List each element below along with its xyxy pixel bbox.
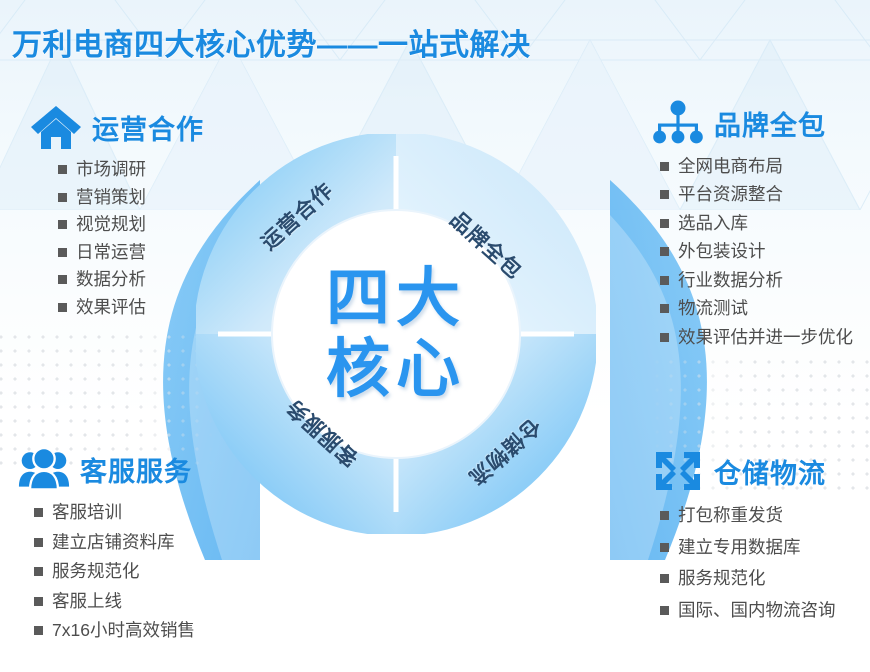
home-icon — [30, 104, 82, 150]
list-item: 外包装设计 — [660, 238, 853, 267]
list-item-label: 全网电商布局 — [678, 158, 783, 176]
quadrant-brand: 品牌全包 全网电商布局 平台资源整合 选品入库 外包装设计 行业数据分析 物流测… — [652, 100, 853, 352]
list-item: 全网电商布局 — [660, 152, 853, 181]
list-item-label: 打包称重发货 — [678, 507, 783, 525]
infographic-canvas: 万利电商四大核心优势——一站式解决 — [0, 0, 870, 672]
list-item: 平台资源整合 — [660, 181, 853, 210]
bullet-icon — [58, 193, 67, 202]
page-title: 万利电商四大核心优势——一站式解决 — [12, 20, 531, 64]
quadrant-service-list: 客服培训 建立店铺资料库 服务规范化 客服上线 7x16小时高效销售 — [34, 498, 195, 646]
people-group-icon — [18, 446, 70, 492]
list-item-label: 视觉规划 — [76, 216, 146, 234]
list-item: 数据分析 — [58, 266, 204, 294]
quadrant-logistics-title: 仓储物流 — [714, 452, 826, 491]
quadrant-brand-title: 品牌全包 — [714, 104, 826, 143]
list-item: 服务规范化 — [34, 557, 195, 587]
list-item-label: 客服培训 — [52, 504, 122, 522]
quadrant-brand-header: 品牌全包 — [652, 100, 853, 146]
bullet-icon — [660, 511, 669, 520]
list-item-label: 物流测试 — [678, 300, 748, 318]
list-item-label: 服务规范化 — [678, 570, 766, 588]
quadrant-brand-list: 全网电商布局 平台资源整合 选品入库 外包装设计 行业数据分析 物流测试 效果评… — [660, 152, 853, 352]
list-item-label: 日常运营 — [76, 244, 146, 262]
core-advantages-donut: 运营合作 品牌全包 客服服务 仓储物流 四大 核心 — [196, 134, 596, 534]
list-item: 客服上线 — [34, 587, 195, 617]
bullet-icon — [34, 538, 43, 547]
list-item-label: 平台资源整合 — [678, 186, 783, 204]
list-item: 国际、国内物流咨询 — [660, 595, 836, 627]
bullet-icon — [660, 247, 669, 256]
list-item: 日常运营 — [58, 239, 204, 267]
bullet-icon — [660, 276, 669, 285]
quadrant-operations-list: 市场调研 营销策划 视觉规划 日常运营 数据分析 效果评估 — [58, 156, 204, 321]
list-item-label: 效果评估并进一步优化 — [678, 329, 853, 347]
list-item-label: 市场调研 — [76, 161, 146, 179]
bullet-icon — [58, 220, 67, 229]
quadrant-operations-header: 运营合作 — [30, 104, 204, 150]
bullet-icon — [660, 190, 669, 199]
bullet-icon — [660, 219, 669, 228]
bullet-icon — [660, 162, 669, 171]
quadrant-operations: 运营合作 市场调研 营销策划 视觉规划 日常运营 数据分析 效果评估 — [30, 104, 204, 321]
list-item-label: 建立专用数据库 — [678, 539, 801, 557]
quadrant-logistics-list: 打包称重发货 建立专用数据库 服务规范化 国际、国内物流咨询 — [660, 500, 836, 626]
bullet-icon — [58, 275, 67, 284]
list-item: 建立专用数据库 — [660, 532, 836, 564]
bullet-icon — [660, 333, 669, 342]
list-item-label: 外包装设计 — [678, 243, 766, 261]
list-item-label: 7x16小时高效销售 — [52, 622, 195, 640]
center-text-line-1: 四大 — [326, 265, 466, 332]
donut-center-text: 四大 核心 — [196, 134, 596, 534]
list-item: 建立店铺资料库 — [34, 528, 195, 558]
list-item: 视觉规划 — [58, 211, 204, 239]
list-item: 效果评估 — [58, 294, 204, 322]
list-item: 7x16小时高效销售 — [34, 616, 195, 646]
bullet-icon — [34, 508, 43, 517]
list-item: 市场调研 — [58, 156, 204, 184]
quadrant-service-title: 客服服务 — [80, 450, 192, 489]
quadrant-logistics: 仓储物流 打包称重发货 建立专用数据库 服务规范化 国际、国内物流咨询 — [652, 448, 836, 626]
list-item: 物流测试 — [660, 295, 853, 324]
bullet-icon — [660, 574, 669, 583]
quadrant-service: 客服服务 客服培训 建立店铺资料库 服务规范化 客服上线 7x16小时高效销售 — [18, 446, 195, 646]
bullet-icon — [34, 626, 43, 635]
bullet-icon — [34, 567, 43, 576]
bullet-icon — [58, 303, 67, 312]
org-chart-icon — [652, 100, 704, 146]
list-item-label: 数据分析 — [76, 271, 146, 289]
list-item-label: 服务规范化 — [52, 563, 140, 581]
bullet-icon — [660, 543, 669, 552]
quadrant-operations-title: 运营合作 — [92, 108, 204, 147]
list-item-label: 建立店铺资料库 — [52, 534, 175, 552]
bullet-icon — [58, 248, 67, 257]
list-item-label: 国际、国内物流咨询 — [678, 602, 836, 620]
list-item: 客服培训 — [34, 498, 195, 528]
list-item: 行业数据分析 — [660, 266, 853, 295]
list-item: 营销策划 — [58, 184, 204, 212]
list-item-label: 选品入库 — [678, 215, 748, 233]
four-arrows-icon — [652, 448, 704, 494]
list-item-label: 行业数据分析 — [678, 272, 783, 290]
list-item: 服务规范化 — [660, 563, 836, 595]
list-item-label: 客服上线 — [52, 593, 122, 611]
bullet-icon — [34, 597, 43, 606]
list-item: 打包称重发货 — [660, 500, 836, 532]
list-item: 效果评估并进一步优化 — [660, 323, 853, 352]
list-item: 选品入库 — [660, 209, 853, 238]
center-text-line-2: 核心 — [326, 336, 466, 403]
bullet-icon — [660, 606, 669, 615]
quadrant-service-header: 客服服务 — [18, 446, 195, 492]
list-item-label: 营销策划 — [76, 189, 146, 207]
quadrant-logistics-header: 仓储物流 — [652, 448, 836, 494]
bullet-icon — [660, 304, 669, 313]
list-item-label: 效果评估 — [76, 299, 146, 317]
bullet-icon — [58, 165, 67, 174]
